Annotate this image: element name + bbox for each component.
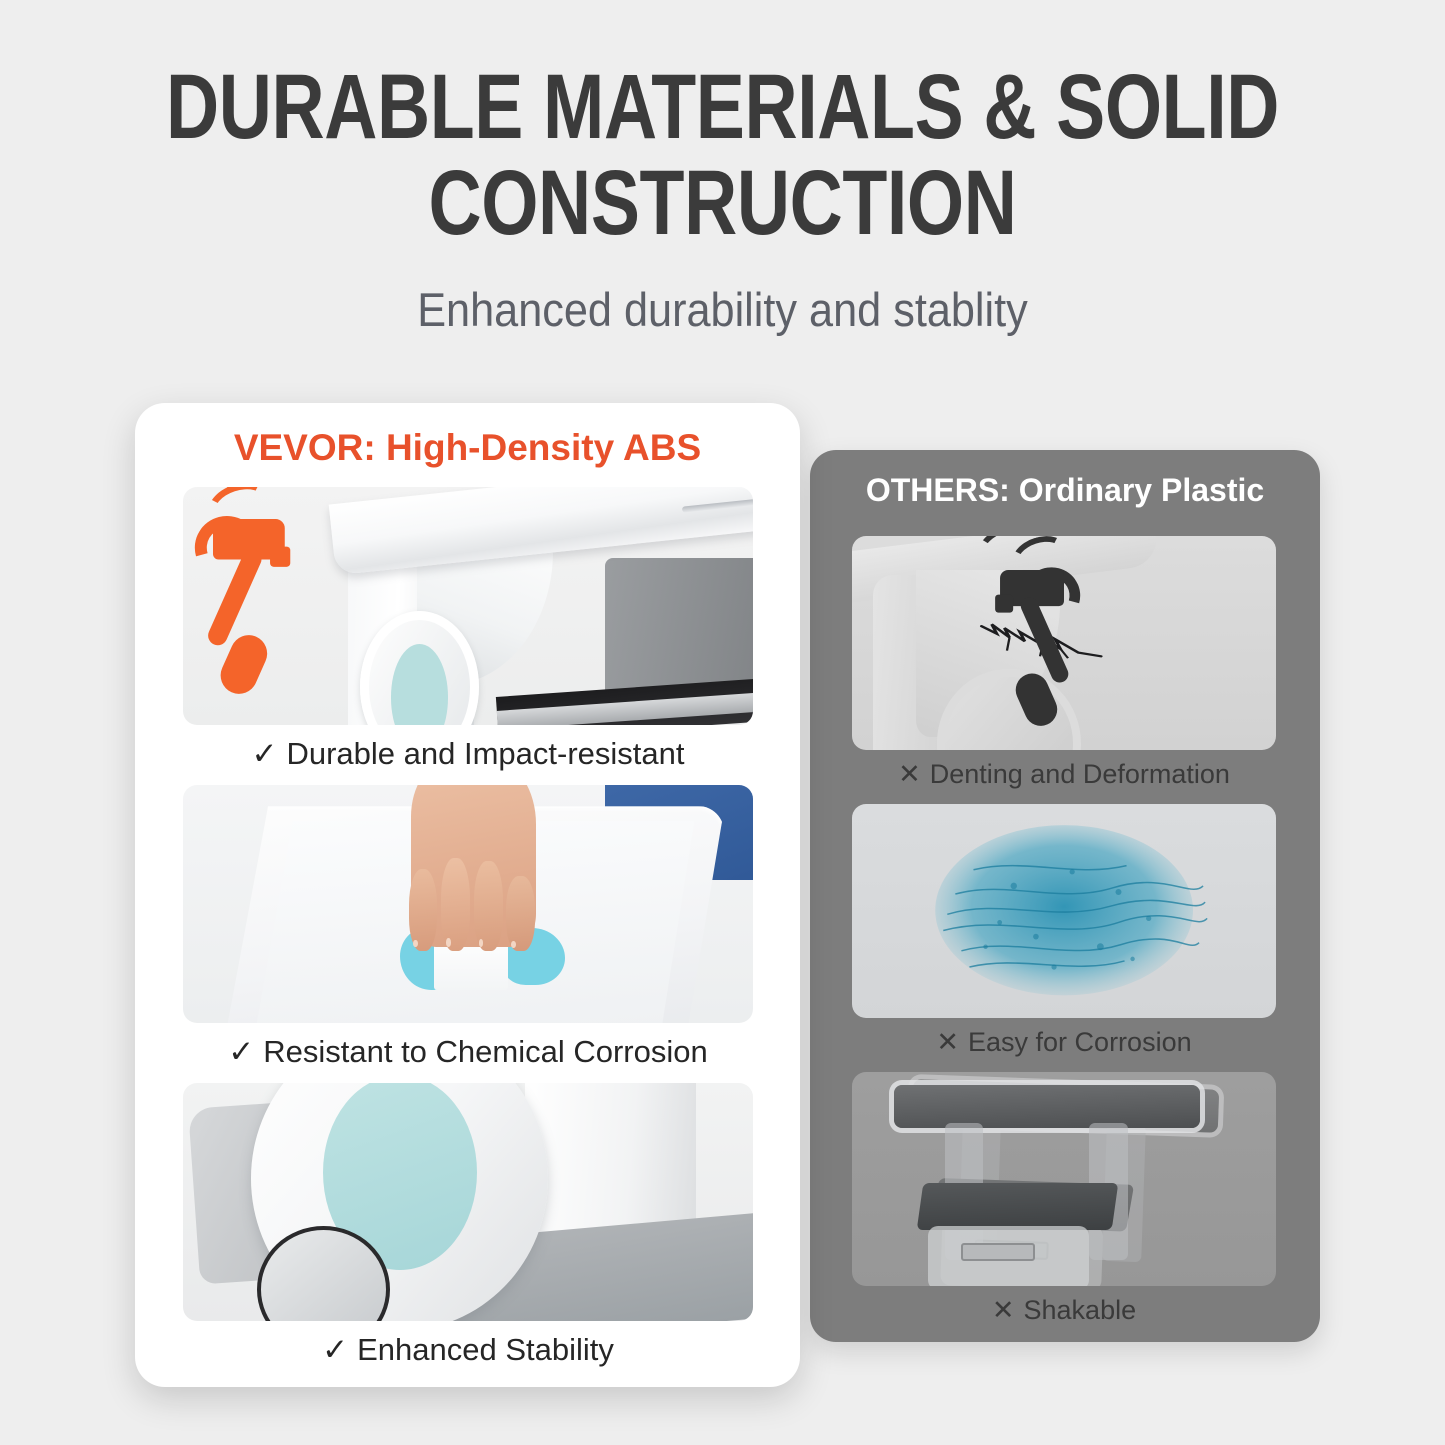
vevor-comparison-card: VEVOR: High-Density ABS ✓Durable an (135, 403, 800, 1387)
page-title: DURABLE MATERIALS & SOLID CONSTRUCTION (145, 62, 1301, 248)
others-item-denting: ✕Denting and Deformation (852, 536, 1276, 790)
corroded-stain-texture-icon (852, 804, 1276, 1018)
cross-mark-icon: ✕ (992, 1295, 1015, 1326)
check-mark-icon: ✓ (251, 736, 277, 772)
others-caption-shakable: ✕Shakable (852, 1295, 1276, 1326)
vevor-panel-heading: VEVOR: High-Density ABS (135, 427, 800, 469)
others-caption-corrosion: ✕Easy for Corrosion (852, 1027, 1276, 1058)
vevor-caption-stability: ✓Enhanced Stability (183, 1332, 753, 1368)
vevor-item-stability: ✓Enhanced Stability (183, 1083, 753, 1368)
vevor-item-corrosion: ✓Resistant to Chemical Corrosion (183, 785, 753, 1070)
ghost-cart-main (852, 1072, 1276, 1286)
others-panel-heading: OTHERS: Ordinary Plastic (810, 472, 1320, 509)
hand-icon (411, 785, 536, 947)
page-subtitle: Enhanced durability and stablity (58, 282, 1387, 337)
cross-mark-icon: ✕ (936, 1027, 959, 1058)
caster-wheel-closeup-icon (183, 1083, 753, 1321)
page-title-line-1: DURABLE MATERIALS & SOLID (166, 56, 1279, 158)
check-mark-icon: ✓ (322, 1332, 348, 1368)
others-item-corrosion: ✕Easy for Corrosion (852, 804, 1276, 1058)
hammer-striking-white-chair-icon (183, 487, 753, 725)
hammer-cracking-plastic-icon (852, 536, 1276, 750)
cross-mark-icon: ✕ (898, 759, 921, 790)
header-block: DURABLE MATERIALS & SOLID CONSTRUCTION E… (0, 62, 1445, 337)
check-mark-icon: ✓ (228, 1034, 254, 1070)
vevor-caption-impact: ✓Durable and Impact-resistant (183, 736, 753, 772)
wobbling-ghost-cart-icon (852, 1072, 1276, 1286)
vevor-caption-corrosion: ✓Resistant to Chemical Corrosion (183, 1034, 753, 1070)
others-caption-denting: ✕Denting and Deformation (852, 759, 1276, 790)
corrosion-blob-svg (903, 817, 1225, 1010)
vevor-item-impact: ✓Durable and Impact-resistant (183, 487, 753, 772)
page-title-line-2: CONSTRUCTION (145, 158, 1301, 248)
hand-wiping-liquid-spill-icon (183, 785, 753, 1023)
infographic-root: DURABLE MATERIALS & SOLID CONSTRUCTION E… (0, 0, 1445, 1445)
others-comparison-card: OTHERS: Ordinary Plastic ✕Denting and De… (810, 450, 1320, 1342)
others-item-shakable: ✕Shakable (852, 1072, 1276, 1326)
